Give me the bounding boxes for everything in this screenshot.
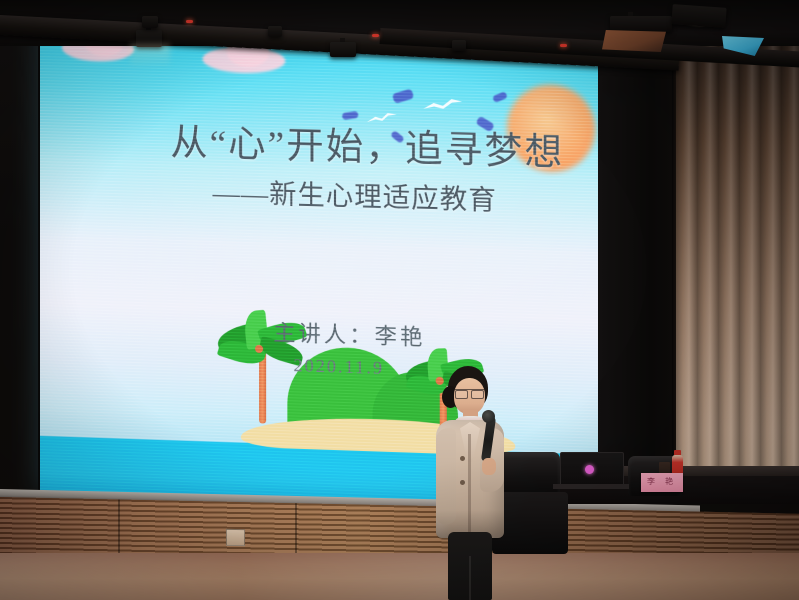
laptop-logo-icon <box>585 465 594 474</box>
stage-curtain <box>676 18 799 488</box>
microphone-head-icon <box>482 410 495 423</box>
glasses-icon <box>455 389 484 397</box>
slide-subtitle: ——新生心理适应教育 <box>213 171 497 218</box>
bird-icon-right <box>422 95 464 116</box>
center-truss-light[interactable] <box>330 42 356 57</box>
accent-dash-5 <box>492 91 508 103</box>
coat-button-2 <box>460 480 465 485</box>
presenter-person <box>408 360 528 600</box>
warm-panel-light[interactable] <box>602 30 666 52</box>
right-truss-light[interactable] <box>610 16 672 32</box>
coconut-left <box>255 345 263 353</box>
hanging-light-body[interactable] <box>671 4 726 28</box>
truss-led-indicator-3 <box>560 44 567 47</box>
slide-title: 从“心”开始，追寻梦想 <box>170 111 564 176</box>
truss-fixture-c[interactable] <box>452 40 466 51</box>
accent-dash-1 <box>392 88 414 103</box>
slide-date: 2020.11.9 <box>293 355 384 379</box>
floor-reflection <box>0 553 799 600</box>
stage-power-outlet[interactable] <box>226 529 245 546</box>
presenter-hand <box>482 458 496 475</box>
photo-scene: 从“心”开始，追寻梦想 ——新生心理适应教育 主讲人：李艳 2020.11.9 <box>0 0 799 600</box>
light-beam-left <box>130 44 170 68</box>
laptop-base <box>553 484 629 489</box>
slide-presenter-line: 主讲人：李艳 <box>273 315 425 352</box>
desk-name-card: 李 艳 <box>641 473 683 492</box>
truss-fixture-b[interactable] <box>268 26 282 37</box>
truss-led-indicator-2 <box>372 34 379 37</box>
coat-button-1 <box>460 456 465 461</box>
truss-led-indicator-1 <box>186 20 193 23</box>
desk-name-card-text: 李 艳 <box>641 476 683 487</box>
truss-fixture-a[interactable] <box>142 16 158 28</box>
presenter-leg-seam <box>469 556 471 600</box>
